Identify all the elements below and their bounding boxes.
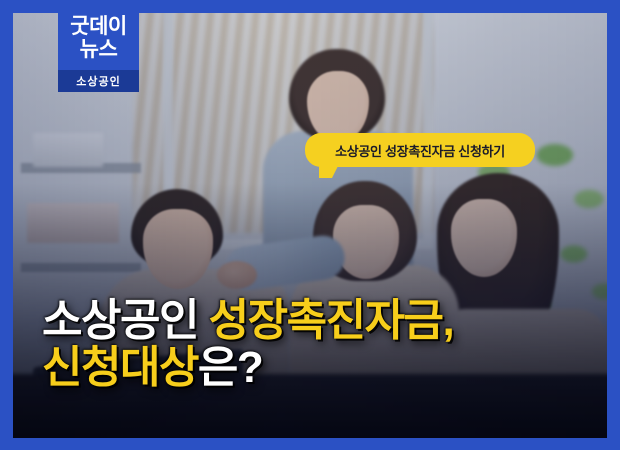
callout-bubble[interactable]: 소상공인 성장촉진자금 신청하기	[305, 133, 535, 167]
callout-bubble-body[interactable]: 소상공인 성장촉진자금 신청하기	[305, 133, 535, 167]
brand-logo-line-2: 뉴스	[80, 39, 118, 61]
headline-line-2-white: 은?	[198, 343, 262, 392]
news-banner-card: 굿데이 뉴스 소상공인 소상공인 성장촉진자금 신청하기 소상공인 성장촉진자금…	[0, 0, 620, 450]
headline-line-1: 소상공인 성장촉진자금,	[42, 298, 453, 345]
brand-logo-text: 굿데이 뉴스	[70, 0, 126, 70]
headline-line-2-accent: 신청대상	[42, 343, 198, 392]
brand-logo-line-1: 굿데이	[70, 16, 126, 38]
headline-line-2: 신청대상은?	[42, 345, 453, 392]
callout-bubble-label: 소상공인 성장촉진자금 신청하기	[335, 141, 505, 160]
brand-logo[interactable]: 굿데이 뉴스 소상공인	[58, 0, 139, 92]
headline-line-1-accent: 성장촉진자금,	[209, 296, 454, 345]
callout-bubble-tail	[319, 166, 338, 178]
headline: 소상공인 성장촉진자금, 신청대상은?	[42, 298, 453, 391]
brand-logo-category-badge: 소상공인	[58, 70, 139, 92]
headline-line-1-white: 소상공인	[42, 296, 209, 345]
